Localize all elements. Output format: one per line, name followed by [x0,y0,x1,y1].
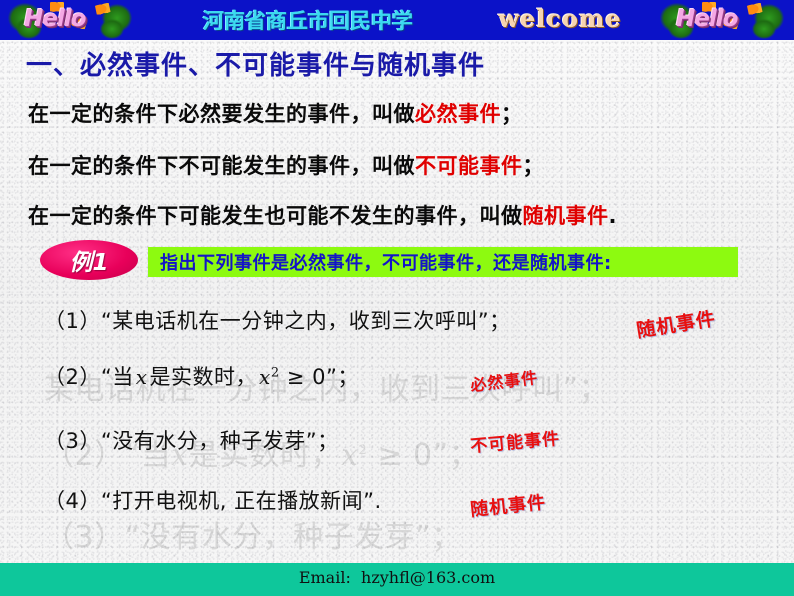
definition-line-random-event: 在一定的条件下可能发生也可能不发生的事件，叫做随机事件. [28,200,617,230]
question-text: “某电话机在一分钟之内，收到三次呼叫”； [101,309,511,333]
foliage-icon [752,19,776,39]
definition-tail: ； [501,102,523,126]
school-title: 河南省商丘市回民中学 [168,5,448,35]
slide-canvas: Hello 河南省商丘市回民中学 welcome Hello 一、必然事件、不可… [0,0,794,596]
definition-line-impossible-event: 在一定的条件下不可能发生的事件，叫做不可能事件； [28,150,544,180]
question-comparator: ≥ [287,365,305,389]
question-number: （1） [44,309,101,333]
definition-tail: ； [523,154,545,178]
footer-email-text: Email: hzyhfl@163.com [0,568,794,587]
question-prefix: “当 [101,365,134,389]
header-bar: Hello 河南省商丘市回民中学 welcome Hello [0,0,794,40]
answer-annotation-2: 必然事件 [469,364,539,396]
hello-decoration-right: Hello [658,1,788,39]
ghost-text: “没有水分，种子发芽”； [125,520,462,555]
definition-term: 不可能事件 [415,154,523,178]
welcome-title: welcome [470,4,650,33]
question-number: （3） [44,429,101,453]
hello-decoration-right-label: Hello [676,6,737,32]
answer-annotation-1: 随机事件 [634,304,717,343]
question-item-1: （1）“某电话机在一分钟之内，收到三次呼叫”； [44,305,511,335]
hello-decoration-left-label: Hello [24,6,85,32]
definition-tail: . [609,204,617,228]
definition-term: 随机事件 [523,204,609,228]
ghost-expression: x2 [341,438,367,473]
ghost-residue-line-3: （3）“没有水分，种子发芽”； [44,512,462,556]
definition-lead: 在一定的条件下不可能发生的事件，叫做 [28,154,415,178]
example-prompt-banner: 指出下列事件是必然事件，不可能事件，还是随机事件: [148,247,738,277]
ghost-comparator: ≥ [377,438,403,473]
hello-decoration-left: Hello [6,1,136,39]
answer-annotation-3: 不可能事件 [469,424,561,457]
question-expression: x2 [257,365,280,389]
example-badge: 例1 [40,240,138,280]
question-value: 0”； [312,365,359,389]
question-number: （2） [44,365,101,389]
question-text: “打开电视机, 正在播放新闻”. [101,489,382,513]
example-prompt-text: 指出下列事件是必然事件，不可能事件，还是随机事件: [160,249,612,275]
footer-bar: Email: hzyhfl@163.com [0,563,794,596]
question-variable: x [134,365,150,389]
foliage-icon [100,19,124,39]
answer-annotation-4: 随机事件 [469,488,547,522]
question-mid: 是实数时， [150,365,258,389]
definition-lead: 在一定的条件下可能发生也可能不发生的事件，叫做 [28,204,523,228]
question-item-2: （2）“当x是实数时，x2 ≥ 0”； [44,361,359,391]
section-title: 一、必然事件、不可能事件与随机事件 [26,45,485,82]
definition-line-certain-event: 在一定的条件下必然要发生的事件，叫做必然事件； [28,98,523,128]
ghost-number: （3） [44,520,125,555]
question-item-3: （3）“没有水分，种子发芽”； [44,425,339,455]
question-text: “没有水分，种子发芽”； [101,429,339,453]
definition-lead: 在一定的条件下必然要发生的事件，叫做 [28,102,415,126]
question-item-4: （4）“打开电视机, 正在播放新闻”. [44,485,382,515]
question-number: （4） [44,489,101,513]
definition-term: 必然事件 [415,102,501,126]
